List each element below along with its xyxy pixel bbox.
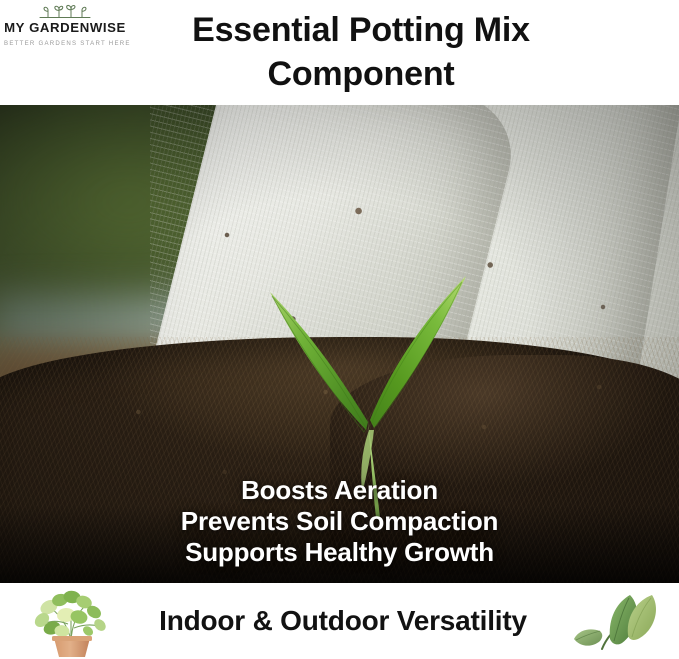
benefit-item-1: Boosts Aeration: [0, 475, 679, 506]
brand-tagline: BETTER GARDENS START HERE: [4, 39, 126, 48]
footer-tagline: Indoor & Outdoor Versatility: [128, 583, 558, 659]
benefit-item-3: Supports Healthy Growth: [0, 537, 679, 568]
page-title-line-1: Essential Potting Mix: [126, 8, 596, 52]
sprout-seedlings-icon: [4, 2, 126, 20]
header-bar: MY GARDENWISE BETTER GARDENS START HERE …: [0, 0, 679, 105]
footer-bar: Indoor & Outdoor Versatility: [0, 583, 679, 659]
benefit-item-2: Prevents Soil Compaction: [0, 506, 679, 537]
benefits-list: Boosts Aeration Prevents Soil Compaction…: [0, 475, 679, 568]
brand-logo: MY GARDENWISE BETTER GARDENS START HERE: [4, 2, 126, 48]
page-title: Essential Potting Mix Component: [126, 8, 596, 96]
brand-name: MY GARDENWISE: [4, 21, 126, 35]
potted-plant-icon: [22, 584, 126, 658]
hero-photo: Boosts Aeration Prevents Soil Compaction…: [0, 105, 679, 583]
leaves-icon: [566, 589, 672, 655]
product-infographic: MY GARDENWISE BETTER GARDENS START HERE …: [0, 0, 679, 659]
page-title-line-2: Component: [126, 52, 596, 96]
